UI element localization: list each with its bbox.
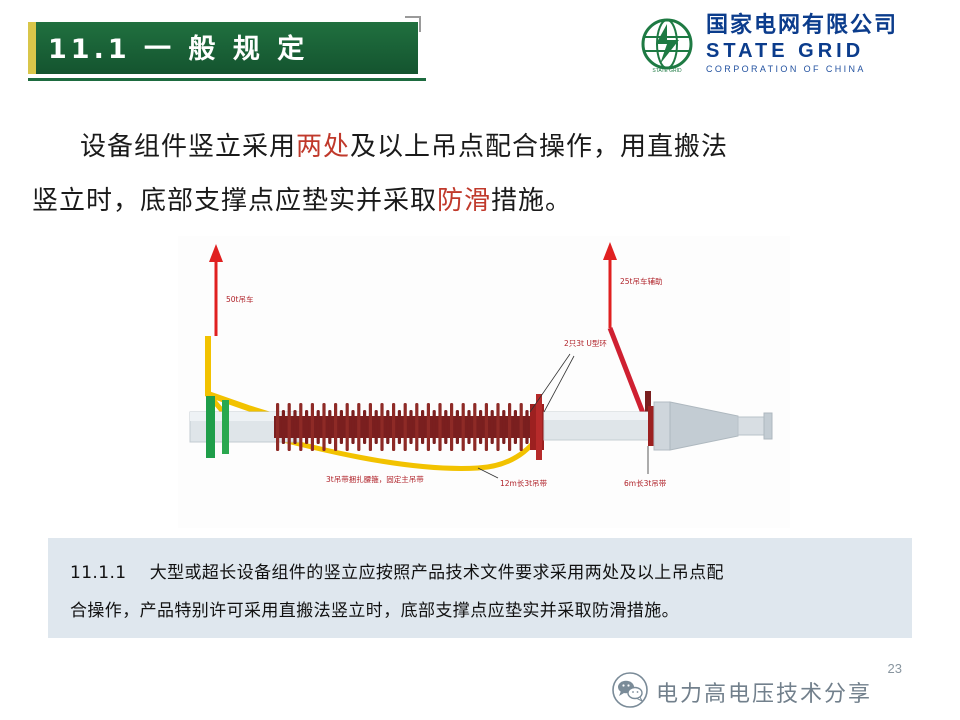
- brand-logo: STATE GRID 国家电网有限公司 STATE GRID CORPORATI…: [636, 14, 946, 76]
- watermark: 电力高电压技术分享: [612, 668, 942, 712]
- lead-paragraph: 设备组件竖立采用两处及以上吊点配合操作，用直搬法 竖立时，底部支撑点应垫实并采取…: [80, 120, 920, 228]
- cone-end-cap: [764, 413, 772, 439]
- green-flange-2: [222, 400, 229, 454]
- insulator-end-flange: [536, 394, 542, 460]
- corner-bracket-icon: [405, 16, 421, 32]
- caption-belt-6m: 6m长3t吊带: [624, 478, 667, 488]
- equipment-lifting-diagram: 50t吊车 25t吊车辅助 2只3t U型环 3t吊带捆扎腰箍，固定主吊带 12…: [178, 236, 790, 528]
- caption-belt-bind: 3t吊带捆扎腰箍，固定主吊带: [326, 474, 424, 484]
- caption-belt-12m: 12m长3t吊带: [500, 478, 548, 488]
- lead-line2-part-b: 措施。: [491, 186, 572, 216]
- page-title: 11.1 一 般 规 定: [48, 30, 418, 70]
- cone-tip-tube: [738, 417, 764, 435]
- clause-line1: 大型或超长设备组件的竖立应按照产品技术文件要求采用两处及以上吊点配: [150, 563, 724, 583]
- svg-text:STATE GRID: STATE GRID: [652, 68, 682, 74]
- wechat-icon: [612, 672, 648, 708]
- brand-name-en-sub: CORPORATION OF CHINA: [706, 63, 946, 75]
- caption-crane-left: 50t吊车: [226, 294, 254, 304]
- caption-crane-right: 25t吊车辅助: [620, 276, 662, 286]
- brand-name-en: STATE GRID: [706, 40, 946, 62]
- green-flange-1: [206, 396, 215, 458]
- right-tube-highlight: [544, 412, 652, 420]
- watermark-text: 电力高电压技术分享: [656, 676, 872, 708]
- state-grid-globe-icon: STATE GRID: [636, 16, 698, 74]
- slide-header: 11.1 一 般 规 定 STATE GRID 国家电网有限公司 STATE G…: [0, 0, 960, 92]
- left-lift-arrow-icon: [209, 244, 223, 336]
- lead-line2-part-a: 竖立时，底部支撑点应垫实并采取: [32, 186, 437, 216]
- right-sling-line: [610, 328, 648, 426]
- clause-note-text: 11.1.1 大型或超长设备组件的竖立应按照产品技术文件要求采用两处及以上吊点配…: [70, 554, 896, 630]
- lead-line1-part-b: 及以上吊点配合操作，用直搬法: [350, 132, 728, 162]
- brand-name-cn: 国家电网有限公司: [706, 14, 946, 38]
- clause-id: 11.1.1: [70, 563, 126, 583]
- caption-u-shackle: 2只3t U型环: [564, 339, 607, 348]
- lead-line1-highlight: 两处: [296, 132, 350, 162]
- title-underline: [28, 78, 426, 81]
- lead-line2-highlight: 防滑: [437, 186, 491, 216]
- right-lift-arrow-icon: [603, 242, 617, 328]
- lead-line1-part-a: 设备组件竖立采用: [80, 132, 296, 162]
- right-flange: [654, 402, 670, 450]
- diagram-svg: 50t吊车 25t吊车辅助 2只3t U型环 3t吊带捆扎腰箍，固定主吊带 12…: [178, 236, 790, 528]
- lead-line2: 竖立时，底部支撑点应垫实并采取防滑措施。: [32, 174, 920, 228]
- clause-note-box: 11.1.1 大型或超长设备组件的竖立应按照产品技术文件要求采用两处及以上吊点配…: [48, 538, 912, 638]
- cone-section: [670, 402, 738, 450]
- clause-line2: 合操作，产品特别许可采用直搬法竖立时，底部支撑点应垫实并采取防滑措施。: [70, 601, 679, 621]
- brand-logo-text: 国家电网有限公司 STATE GRID CORPORATION OF CHINA: [706, 14, 946, 75]
- right-red-band: [648, 406, 654, 446]
- title-accent-bar: [28, 22, 36, 74]
